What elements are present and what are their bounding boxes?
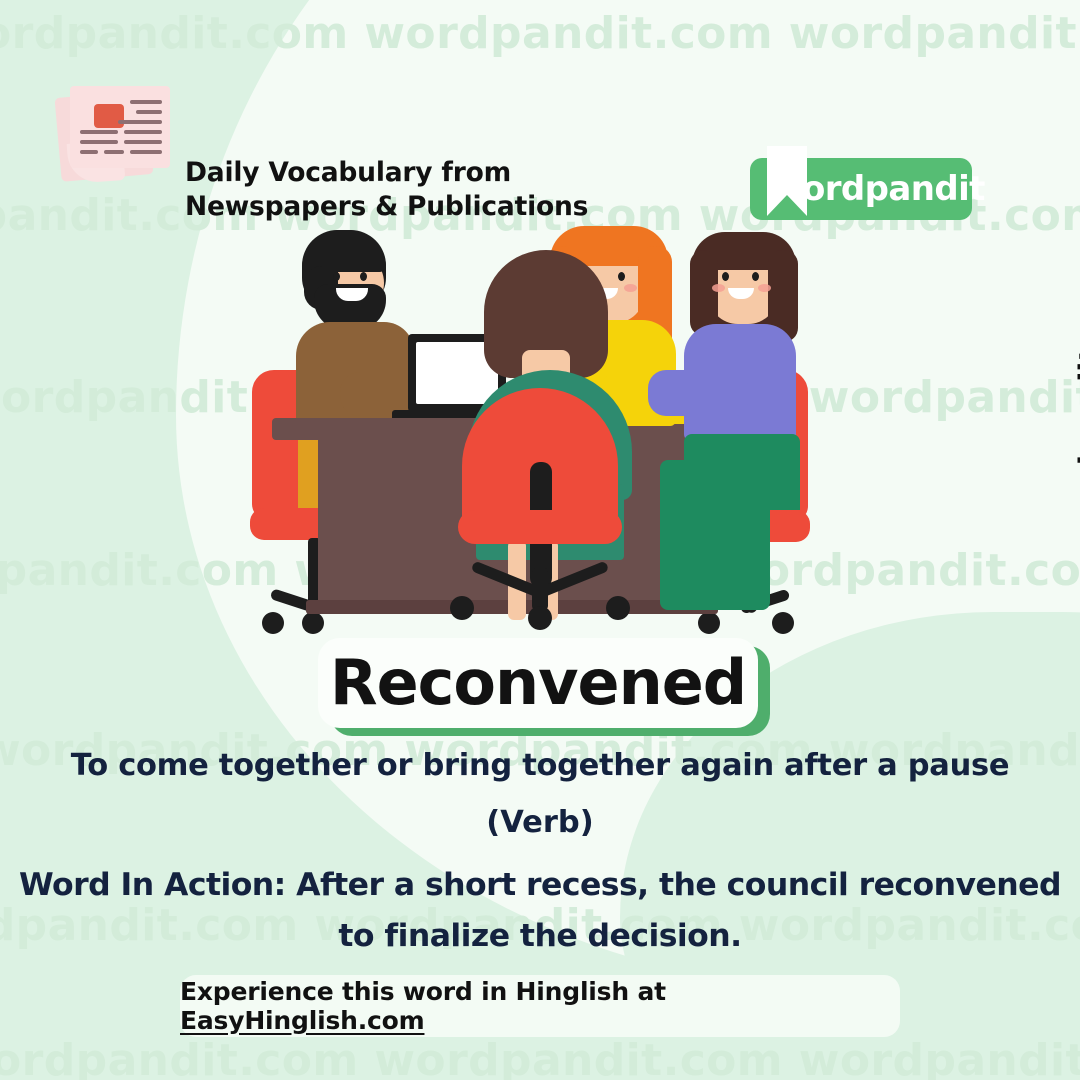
newspaper-icon	[56, 80, 176, 180]
word-in-action-line-2: to finalize the decision.	[0, 911, 1080, 962]
page-title: Daily Vocabulary from Newspapers & Publi…	[185, 156, 705, 224]
part-of-speech: (Verb)	[0, 805, 1080, 840]
word-card: Reconvened	[318, 638, 758, 728]
word-in-action: Word In Action: After a short recess, th…	[0, 860, 1080, 963]
logo-text: ordpandit	[802, 158, 985, 220]
meeting-illustration	[240, 222, 840, 642]
footer-bar: Experience this word in Hinglish at Easy…	[180, 975, 900, 1037]
bookmark-icon	[767, 146, 807, 216]
title-line-1: Daily Vocabulary from	[185, 156, 705, 190]
poster-canvas: wordpandit.com wordpandit.com wordpandit…	[0, 0, 1080, 1080]
footer-text: Experience this word in Hinglish at Easy…	[180, 977, 900, 1035]
word-in-action-line-1: Word In Action: After a short recess, th…	[0, 860, 1080, 911]
wordpandit-logo[interactable]: ordpandit	[750, 158, 972, 220]
vocabulary-word: Reconvened	[330, 652, 746, 714]
easyhinglish-link[interactable]: EasyHinglish.com	[180, 1006, 424, 1035]
header: Daily Vocabulary from Newspapers & Publi…	[0, 70, 1080, 180]
footer-prefix: Experience this word in Hinglish at	[180, 977, 666, 1006]
side-watermark-text: wordpandit.com	[1074, 268, 1080, 539]
title-line-2: Newspapers & Publications	[185, 190, 705, 224]
definition-text: To come together or bring together again…	[0, 748, 1080, 783]
